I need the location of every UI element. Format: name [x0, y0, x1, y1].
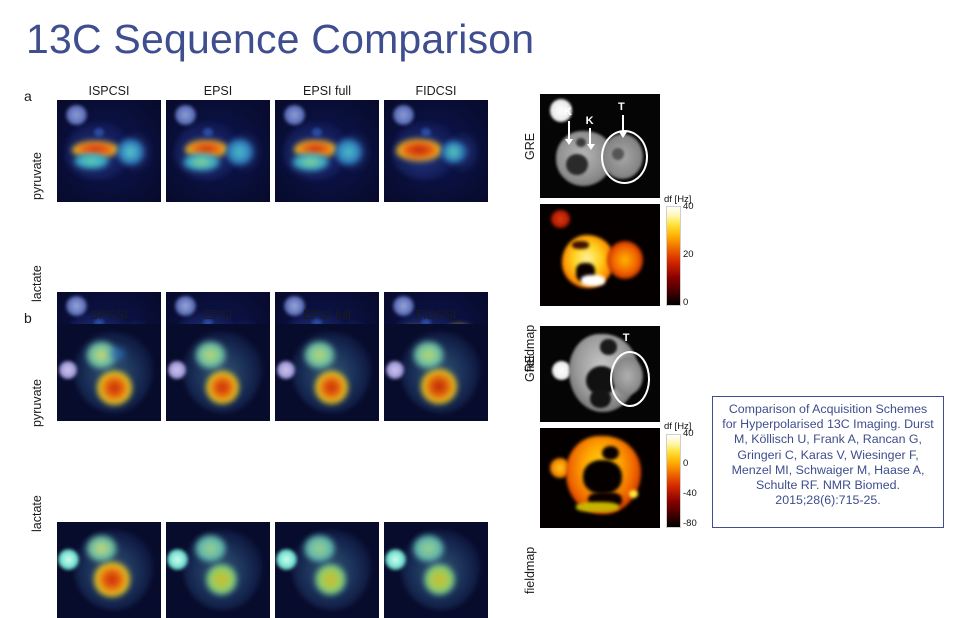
panel-b-side-label-gre: GRE [523, 355, 537, 382]
page-title: 13C Sequence Comparison [26, 16, 534, 62]
panel-b-column-header-1: SPCSI [57, 308, 161, 322]
arrow-head-kidney-1 [565, 139, 573, 145]
arrow-head-kidney-2 [587, 144, 595, 150]
gre-marker-kidney-2: K [586, 115, 594, 127]
panel-b-row-label-lactate: lactate [30, 495, 44, 532]
panel-b-column-header-4: FIDCSI [384, 308, 488, 322]
panel-b-fieldmap-image [540, 428, 660, 528]
panel-a-image-pyruvate-epsi-full [275, 100, 379, 202]
panel-b-image-pyruvate-epsi-full [275, 324, 379, 421]
panel-b-colorbar-tick-2: 0 [683, 458, 688, 469]
panel-b-colorbar-tick-4: -80 [683, 518, 697, 529]
gre-roi-ellipse-b [610, 351, 650, 407]
panel-b-colorbar-tick-1: 40 [683, 428, 694, 439]
panel-a-side-label-gre: GRE [523, 133, 537, 160]
panel-a-colorbar-tick-3: 0 [683, 297, 688, 308]
panel-b-image-pyruvate-epsi [166, 324, 270, 421]
gre-roi-circle [601, 130, 648, 184]
panel-b-column-header-3: EPSI full [275, 308, 379, 322]
panel-a-image-pyruvate-ispcsi [57, 100, 161, 202]
panel-a-colorbar-tick-1: 40 [683, 201, 694, 212]
panel-a-colorbar-tick-2: 20 [683, 249, 694, 260]
gre-marker-kidney-1: K [564, 106, 572, 118]
gre-marker-tumour: T [618, 101, 625, 113]
panel-b-image-lactate-epsi [166, 522, 270, 618]
panel-b-side-label-fieldmap: fieldmap [523, 547, 537, 594]
panel-b-row-label-pyruvate: pyruvate [30, 379, 44, 427]
panel-a-row-label-lactate: lactate [30, 265, 44, 302]
panel-b-image-lactate-spcsi [57, 522, 161, 618]
figure-container: a ISPCSI EPSI EPSI full FIDCSI pyruvate … [0, 82, 700, 540]
panel-b-image-pyruvate-fidcsi [384, 324, 488, 421]
panel-a-column-header-3: EPSI full [275, 84, 379, 98]
panel-a-fieldmap-image [540, 204, 660, 306]
panel-a-column-header-4: FIDCSI [384, 84, 488, 98]
arrow-icon-kidney-2 [589, 128, 591, 144]
arrow-icon-kidney-1 [568, 121, 570, 139]
panel-b-column-header-2: EPSI [166, 308, 270, 322]
panel-a-gre-image: K K T [540, 94, 660, 198]
panel-b-image-lactate-epsi-full [275, 522, 379, 618]
panel-a-image-pyruvate-epsi [166, 100, 270, 202]
panel-b-image-pyruvate-spcsi [57, 324, 161, 421]
panel-b-letter: b [24, 310, 32, 326]
panel-b-colorbar-gradient [666, 434, 681, 528]
panel-b-image-lactate-fidcsi [384, 522, 488, 618]
panel-a-letter: a [24, 88, 32, 104]
panel-b-gre-image: T [540, 326, 660, 422]
panel-a-colorbar-gradient [666, 206, 681, 306]
gre-marker-tumour-b: T [623, 332, 630, 344]
citation-box: Comparison of Acquisition Schemes for Hy… [712, 396, 944, 528]
panel-a-image-pyruvate-fidcsi [384, 100, 488, 202]
panel-b-colorbar-tick-3: -40 [683, 488, 697, 499]
panel-a-column-header-1: ISPCSI [57, 84, 161, 98]
panel-a-column-header-2: EPSI [166, 84, 270, 98]
panel-a-row-label-pyruvate: pyruvate [30, 152, 44, 200]
